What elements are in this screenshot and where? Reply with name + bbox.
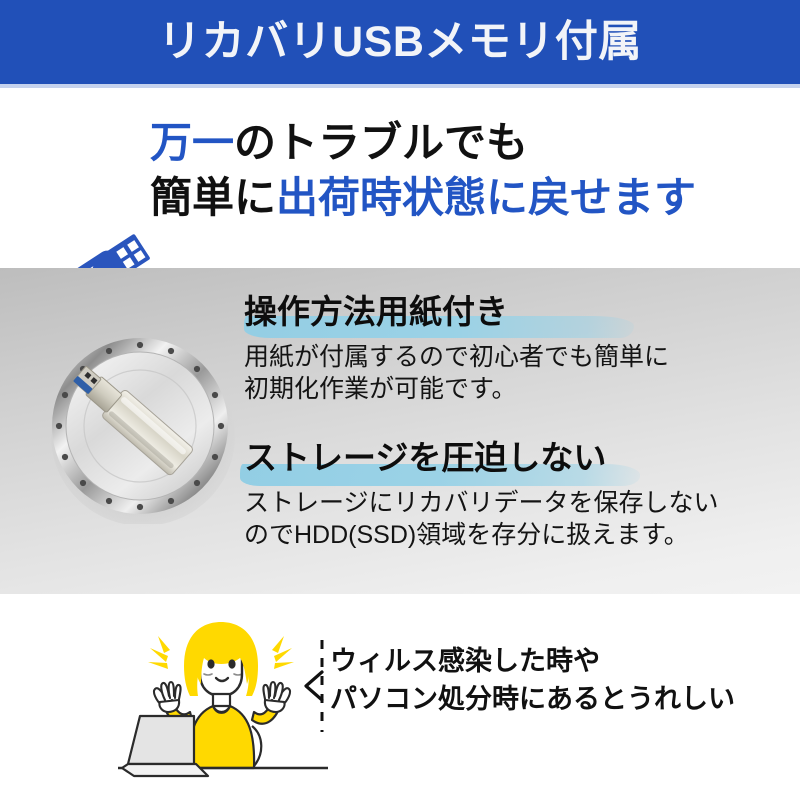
bottom-caption-line-1: ウィルス感染した時や xyxy=(330,642,735,680)
hero-line-1-accent: 万一 xyxy=(150,119,234,166)
bottom-section: ウィルス感染した時や パソコン処分時にあるとうれしい xyxy=(0,594,800,800)
feature-body-line: 初期化作業が可能です。 xyxy=(244,373,792,406)
feature-item: ストレージを圧迫しない ストレージにリカバリデータを保存しない のでHDD(SS… xyxy=(244,440,792,552)
hero-headline: 万一のトラブルでも 簡単に出荷時状態に戻せます xyxy=(150,116,790,225)
header-banner: リカバリUSBメモリ付属 xyxy=(0,0,800,84)
hero-line-2: 簡単に出荷時状態に戻せます xyxy=(150,171,790,226)
feature-heading: 操作方法用紙付き xyxy=(244,294,512,335)
feature-body-line: 用紙が付属するので初心者でも簡単に xyxy=(244,341,792,374)
usb-memory-disc-photo xyxy=(44,330,238,524)
hero-line-2-lead: 簡単に xyxy=(150,174,276,221)
header-title: リカバリUSBメモリ付属 xyxy=(158,21,642,64)
promo-page: リカバリUSBメモリ付属 万一のトラブルでも 簡 xyxy=(0,0,800,800)
hero-line-2-accent: 出荷時状態に戻せます xyxy=(276,174,696,221)
features-section: 操作方法用紙付き 用紙が付属するので初心者でも簡単に 初期化作業が可能です。 ス… xyxy=(0,268,800,594)
bottom-caption-line-2: パソコン処分時にあるとうれしい xyxy=(330,680,735,718)
feature-item: 操作方法用紙付き 用紙が付属するので初心者でも簡単に 初期化作業が可能です。 xyxy=(244,294,792,406)
hero-section: 万一のトラブルでも 簡単に出荷時状態に戻せます xyxy=(0,88,800,268)
feature-body-line: ストレージにリカバリデータを保存しない xyxy=(244,487,792,520)
bottom-caption: ウィルス感染した時や パソコン処分時にあるとうれしい xyxy=(330,642,735,719)
features-text-column: 操作方法用紙付き 用紙が付属するので初心者でも簡単に 初期化作業が可能です。 ス… xyxy=(244,294,792,552)
feature-heading: ストレージを圧迫しない xyxy=(244,440,610,481)
hero-line-1: 万一のトラブルでも xyxy=(150,116,790,171)
feature-body-line: のでHDD(SSD)領域を存分に扱えます。 xyxy=(244,519,792,552)
hero-line-1-rest: のトラブルでも xyxy=(234,119,528,166)
